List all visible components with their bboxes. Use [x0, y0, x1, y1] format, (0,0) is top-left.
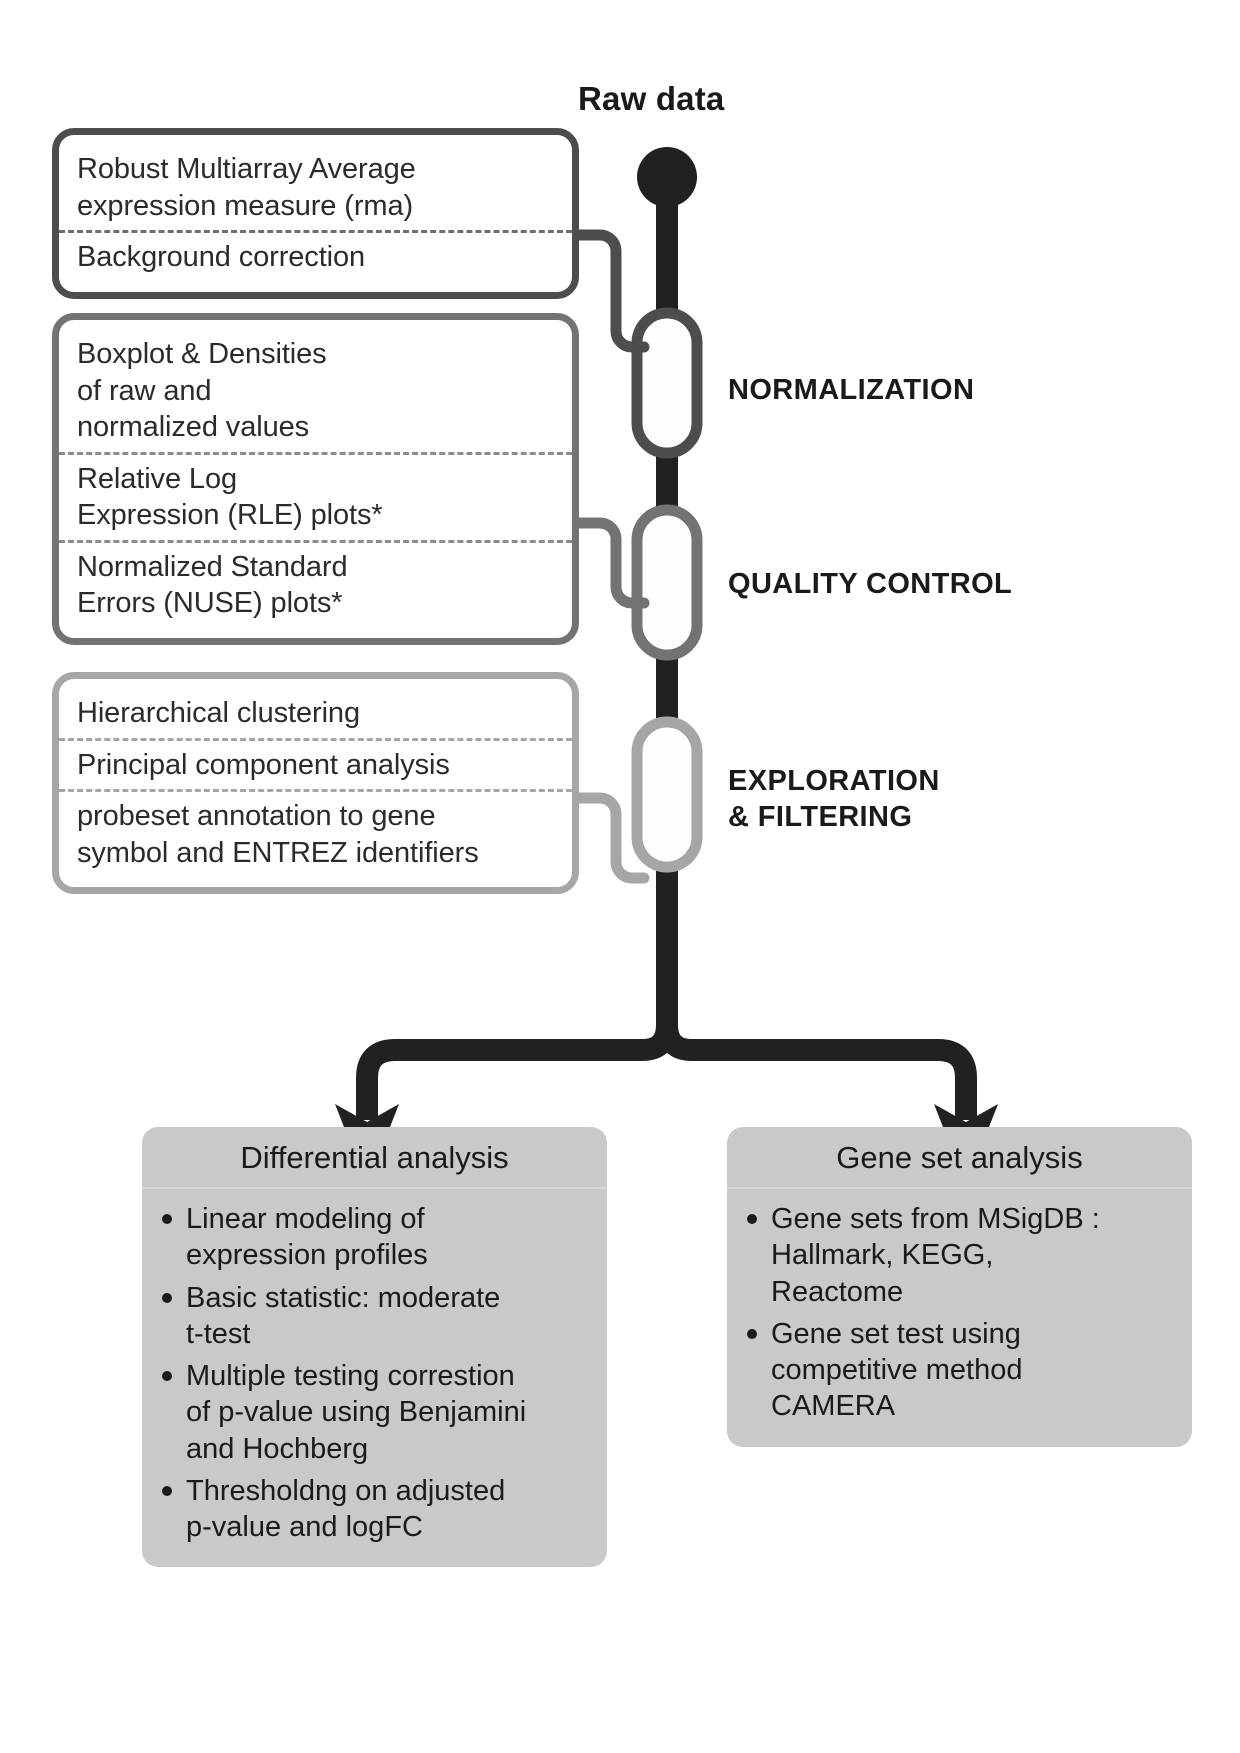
panel-item: Principal component analysis [59, 738, 572, 790]
capsule-quality-control [637, 510, 697, 655]
list-item: Gene set test using competitive method C… [745, 1316, 1178, 1425]
stage-label-quality-control: QUALITY CONTROL [728, 566, 1012, 602]
panel-item: Boxplot & Densities of raw and normalize… [59, 330, 572, 452]
card-bullet-list: Gene sets from MSigDB : Hallmark, KEGG, … [727, 1189, 1192, 1447]
card-bullet-list: Linear modeling of expression profiles B… [142, 1189, 607, 1567]
page-title: Raw data [578, 80, 724, 118]
list-item: Multiple testing correstion of p-value u… [160, 1358, 593, 1467]
raw-data-node-icon [637, 147, 697, 207]
list-item: Gene sets from MSigDB : Hallmark, KEGG, … [745, 1201, 1178, 1310]
card-differential-analysis: Differential analysis Linear modeling of… [142, 1127, 607, 1567]
panel-exploration: Hierarchical clustering Principal compon… [52, 672, 579, 894]
list-item: Linear modeling of expression profiles [160, 1201, 593, 1274]
capsule-normalization [637, 313, 697, 453]
stage-label-exploration: EXPLORATION & FILTERING [728, 763, 940, 836]
panel-item: Robust Multiarray Average expression mea… [59, 145, 572, 230]
card-title: Gene set analysis [727, 1127, 1192, 1189]
capsule-exploration [637, 722, 697, 867]
panel-item: Hierarchical clustering [59, 689, 572, 738]
panel-quality-control: Boxplot & Densities of raw and normalize… [52, 313, 579, 645]
panel-normalization: Robust Multiarray Average expression mea… [52, 128, 579, 299]
panel-item: Relative Log Expression (RLE) plots* [59, 452, 572, 540]
panel-item: Background correction [59, 230, 572, 282]
fork-branch-right [667, 1005, 966, 1120]
card-title: Differential analysis [142, 1127, 607, 1189]
list-item: Thresholdng on adjusted p-value and logF… [160, 1473, 593, 1546]
panel-item: probeset annotation to gene symbol and E… [59, 789, 572, 877]
flowchart-diagram: Raw data Robust Multiarray Average expre… [0, 0, 1240, 1753]
card-gene-set-analysis: Gene set analysis Gene sets from MSigDB … [727, 1127, 1192, 1447]
fork-branch-left [367, 1005, 667, 1120]
panel-item: Normalized Standard Errors (NUSE) plots* [59, 540, 572, 628]
stage-label-normalization: NORMALIZATION [728, 372, 974, 408]
list-item: Basic statistic: moderate t-test [160, 1280, 593, 1353]
